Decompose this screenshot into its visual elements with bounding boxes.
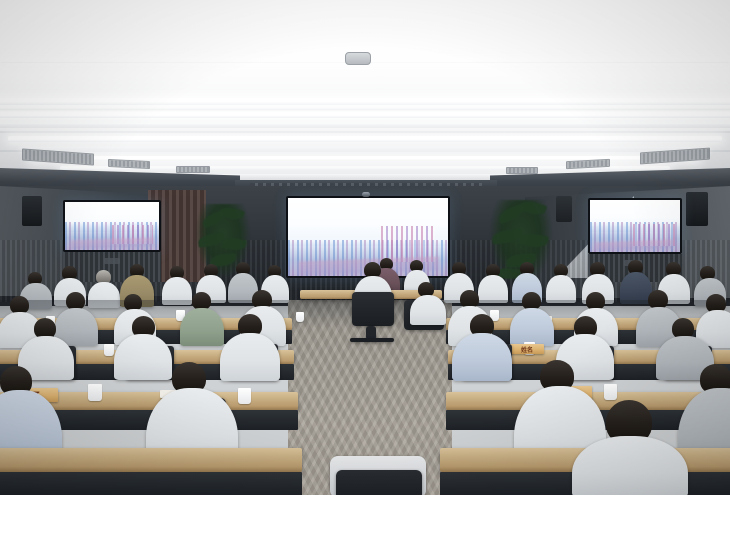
attendee [114, 334, 172, 380]
attendee [478, 275, 508, 303]
ceiling-panel-seam [0, 108, 730, 111]
attendee [510, 308, 554, 346]
wall-speaker-icon [22, 196, 42, 226]
right-side-display[interactable] [588, 198, 682, 254]
left-screen-content [65, 202, 159, 250]
chair-seat [336, 470, 422, 495]
office-chair[interactable] [352, 292, 394, 326]
air-vent [176, 166, 210, 173]
attendee [410, 295, 446, 325]
screenshot-frame: 姓名 子 姓名 [0, 0, 730, 548]
ceiling-light-strip [0, 112, 730, 118]
attendee [452, 333, 512, 381]
left-display-badge [104, 258, 120, 264]
wall-speaker-icon [556, 196, 572, 222]
wall-speaker-icon [686, 192, 708, 226]
camera-icon [362, 192, 370, 197]
attendee [546, 275, 576, 303]
attendee-foreground [572, 436, 688, 495]
attendee [88, 282, 120, 308]
air-vent [506, 167, 538, 174]
attendee [220, 333, 280, 381]
paper-cup [604, 384, 617, 400]
ceiling-light-strip [20, 147, 710, 151]
attendee [180, 308, 224, 346]
ceiling-light-strip [0, 124, 730, 128]
ceiling-light-strip [0, 98, 730, 105]
paper-cup [296, 312, 304, 322]
right-screen-content [590, 200, 680, 252]
white-letterbox [0, 495, 730, 548]
desk-row-5-left [0, 448, 302, 472]
desk-nameplate: 姓名 [510, 344, 544, 354]
ceiling-panel-seam [0, 131, 730, 133]
conference-room-photo: 姓名 子 姓名 [0, 0, 730, 495]
left-side-display[interactable] [63, 200, 161, 252]
ceiling-speaker-icon [345, 52, 371, 65]
desk-front-panel [0, 472, 302, 495]
attendee [162, 277, 192, 305]
ceiling-light-strip [8, 136, 722, 142]
paper-cup [104, 344, 114, 356]
paper-cup [88, 384, 102, 401]
paper-cup [238, 388, 251, 404]
chair-base [350, 338, 394, 342]
